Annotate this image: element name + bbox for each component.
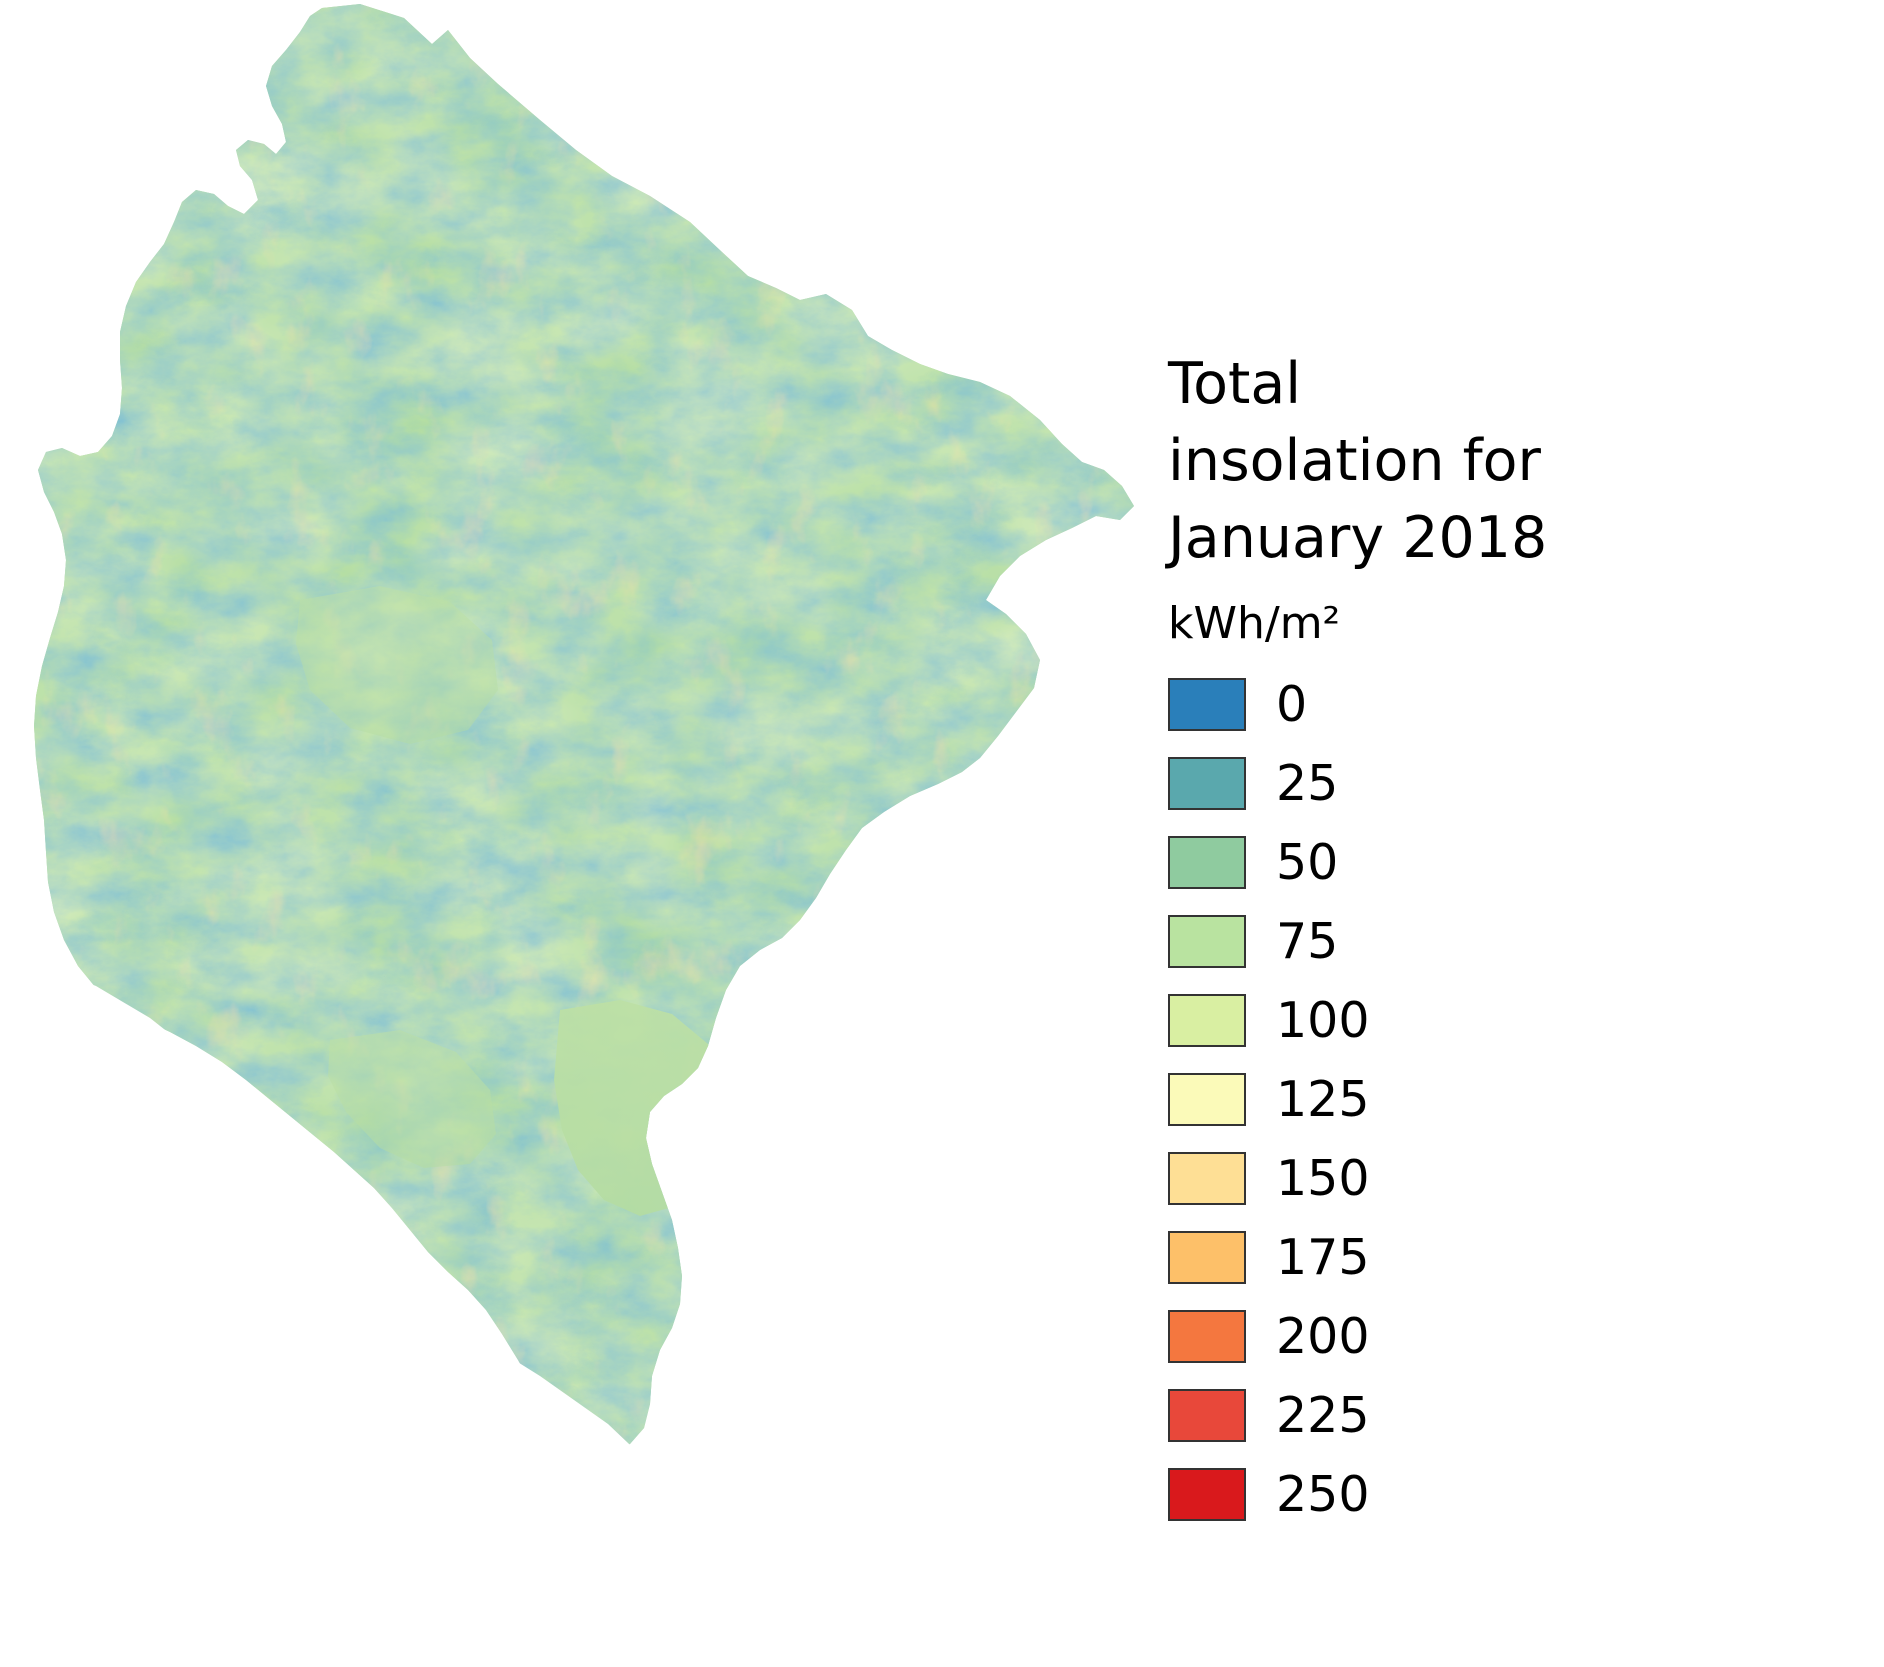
- legend-item[interactable]: 125: [1168, 1060, 1788, 1139]
- legend-item-label: 25: [1276, 757, 1338, 810]
- legend-entries: 0 25 50 75 100 125: [1168, 665, 1788, 1534]
- legend-item[interactable]: 50: [1168, 823, 1788, 902]
- legend-color-swatch: [1168, 1152, 1246, 1205]
- legend-item-label: 75: [1276, 915, 1338, 968]
- legend-item-label: 150: [1276, 1152, 1370, 1205]
- legend-item[interactable]: 150: [1168, 1139, 1788, 1218]
- insolation-map-figure: Total insolation for January 2018 kWh/m²…: [0, 0, 1884, 1667]
- page-title-line-3: January 2018: [1168, 500, 1868, 577]
- legend-item[interactable]: 75: [1168, 902, 1788, 981]
- legend-unit-label: kWh/m²: [1168, 598, 1340, 650]
- legend-color-swatch: [1168, 915, 1246, 968]
- legend-item-label: 250: [1276, 1468, 1370, 1521]
- legend-panel: Total insolation for January 2018 kWh/m²…: [1160, 0, 1884, 1667]
- legend-color-swatch: [1168, 1468, 1246, 1521]
- coastal-lowland: [700, 1372, 806, 1448]
- page-title-line-1: Total: [1168, 346, 1868, 423]
- legend-color-swatch: [1168, 1073, 1246, 1126]
- legend-item[interactable]: 225: [1168, 1376, 1788, 1455]
- montenegro-insolation-raster[interactable]: [0, 0, 1160, 1667]
- legend-item-label: 225: [1276, 1389, 1370, 1442]
- legend-color-swatch: [1168, 994, 1246, 1047]
- legend-item-label: 100: [1276, 994, 1370, 1047]
- legend-color-swatch: [1168, 836, 1246, 889]
- map-panel[interactable]: [0, 0, 1160, 1667]
- legend-item[interactable]: 25: [1168, 744, 1788, 823]
- page-title: Total insolation for January 2018: [1168, 346, 1868, 577]
- legend-item-label: 50: [1276, 836, 1338, 889]
- legend-item[interactable]: 100: [1168, 981, 1788, 1060]
- legend-item-label: 200: [1276, 1310, 1370, 1363]
- legend-color-swatch: [1168, 757, 1246, 810]
- legend-color-swatch: [1168, 1310, 1246, 1363]
- legend-item[interactable]: 0: [1168, 665, 1788, 744]
- legend-color-swatch: [1168, 1389, 1246, 1442]
- legend-item[interactable]: 175: [1168, 1218, 1788, 1297]
- legend-item-label: 0: [1276, 678, 1307, 731]
- legend-color-swatch: [1168, 1231, 1246, 1284]
- legend-item[interactable]: 200: [1168, 1297, 1788, 1376]
- legend-color-swatch: [1168, 678, 1246, 731]
- legend-item-label: 125: [1276, 1073, 1370, 1126]
- legend-item[interactable]: 250: [1168, 1455, 1788, 1534]
- legend-item-label: 175: [1276, 1231, 1370, 1284]
- page-title-line-2: insolation for: [1168, 423, 1868, 500]
